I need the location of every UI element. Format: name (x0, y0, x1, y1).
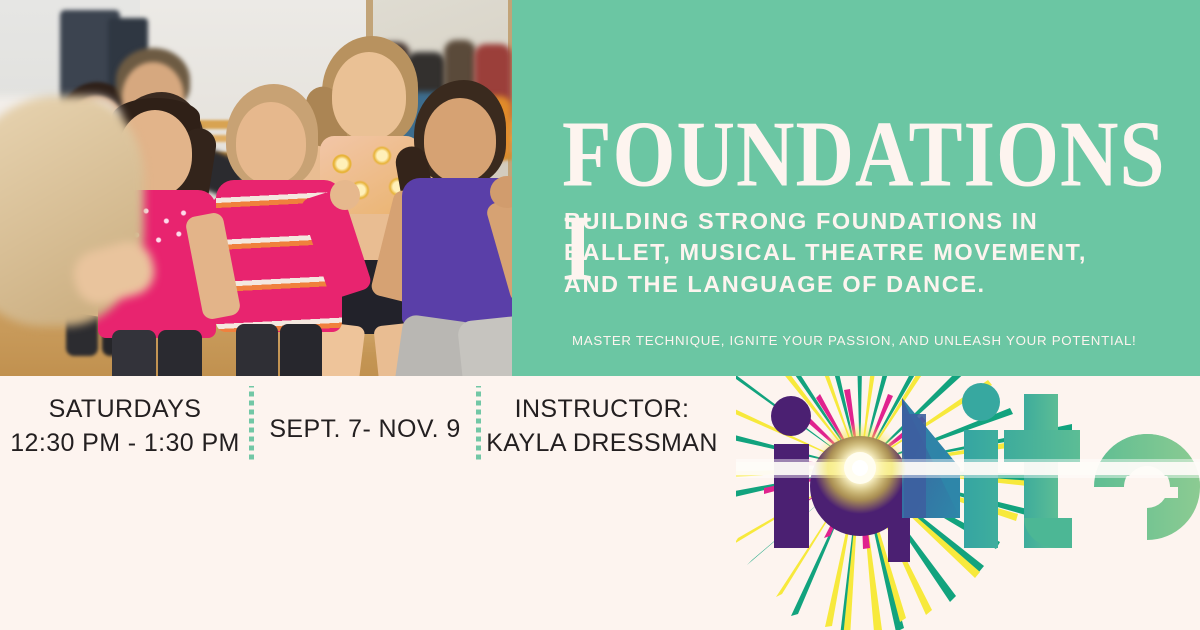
dancer-purple-tank (398, 80, 512, 376)
subtitle-block: BUILDING STRONG FOUNDATIONS IN BALLET, M… (564, 206, 1174, 300)
dance-class-photo (0, 0, 512, 376)
poster-top-row: FOUNDATIONS I BUILDING STRONG FOUNDATION… (0, 0, 1200, 376)
logo-letter-i2-stem (964, 430, 998, 548)
subtitle-line-3: AND THE LANGUAGE OF DANCE. (564, 269, 1174, 300)
class-promo-poster: FOUNDATIONS I BUILDING STRONG FOUNDATION… (0, 0, 1200, 630)
tagline: MASTER TECHNIQUE, IGNITE YOUR PASSION, A… (572, 333, 1172, 349)
date-range: SEPT. 7- NOV. 9 (252, 412, 478, 446)
instructor-name: KAYLA DRESSMAN (479, 426, 725, 460)
logo-letter-i-dot (771, 396, 811, 436)
subtitle-line-2: BALLET, MUSICAL THEATRE MOVEMENT, (564, 237, 1174, 268)
subtitle-line-1: BUILDING STRONG FOUNDATIONS IN (564, 206, 1174, 237)
headline-panel: FOUNDATIONS I BUILDING STRONG FOUNDATION… (512, 0, 1200, 376)
schedule-block: SATURDAYS 12:30 PM - 1:30 PM (0, 392, 250, 460)
details-bar: SATURDAYS 12:30 PM - 1:30 PM SEPT. 7- NO… (0, 376, 1200, 630)
schedule-days: SATURDAYS (0, 392, 250, 426)
dancer-foreground-blurred (0, 96, 169, 376)
ignite-logo (736, 358, 1200, 630)
schedule-time: 12:30 PM - 1:30 PM (0, 426, 250, 460)
instructor-block: INSTRUCTOR: KAYLA DRESSMAN (479, 392, 725, 460)
logo-letter-i2-dot (962, 383, 1000, 421)
logo-letter-t-cross (1004, 430, 1080, 462)
instructor-label: INSTRUCTOR: (479, 392, 725, 426)
